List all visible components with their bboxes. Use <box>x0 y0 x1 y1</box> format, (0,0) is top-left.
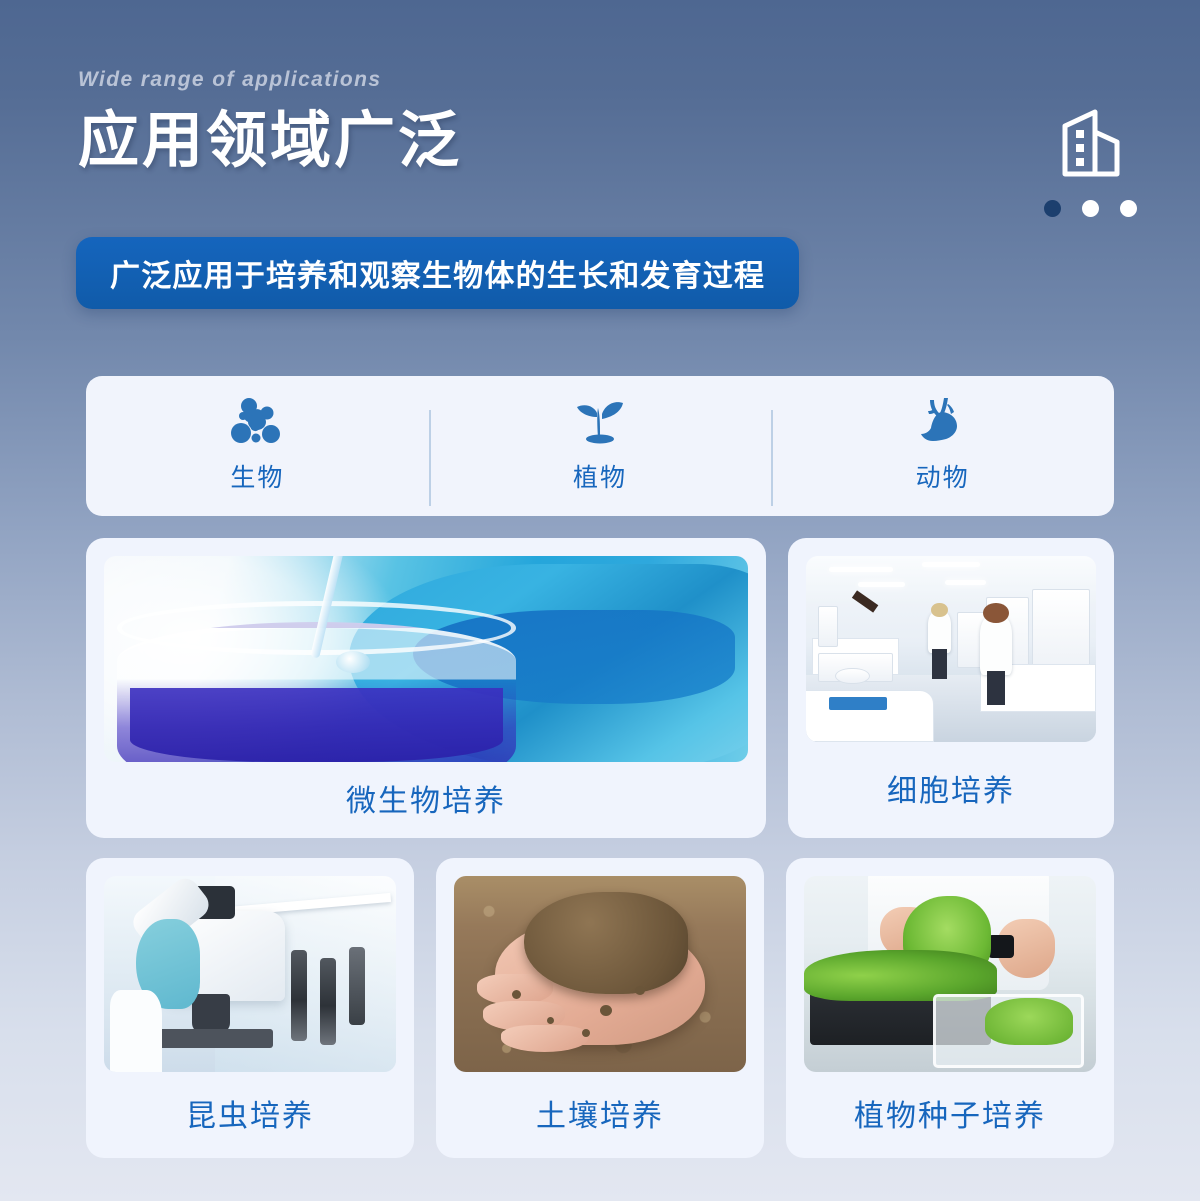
microscope-gloved-hand-photo <box>104 876 396 1072</box>
card-row-bottom: 昆虫培养 土壤培养 <box>86 858 1114 1158</box>
subtitle-banner-text: 广泛应用于培养和观察生物体的生长和发育过程 <box>110 251 765 295</box>
category-label: 植物 <box>573 458 627 494</box>
category-item-biology[interactable]: 生物 <box>86 398 429 494</box>
card-row-top: 微生物培养 <box>86 538 1114 838</box>
subtitle-banner: 广泛应用于培养和观察生物体的生长和发育过程 <box>76 237 799 309</box>
seedling-trays-photo <box>804 876 1096 1072</box>
pager-dot-3[interactable] <box>1120 200 1137 217</box>
card-plant-seed-culture[interactable]: 植物种子培养 <box>786 858 1114 1158</box>
card-label: 细胞培养 <box>887 752 1015 828</box>
building-icon <box>1030 108 1150 178</box>
page-title: 应用领域广泛 <box>78 106 462 174</box>
pager-dot-2[interactable] <box>1082 200 1099 217</box>
deer-icon <box>917 398 969 446</box>
microbe-icon <box>230 398 284 446</box>
card-insect-culture[interactable]: 昆虫培养 <box>86 858 414 1158</box>
card-cell-culture[interactable]: 细胞培养 <box>788 538 1114 838</box>
page-header: Wide range of applications 应用领域广泛 <box>78 68 462 174</box>
category-strip: 生物 植物 动物 <box>86 376 1114 516</box>
card-label: 微生物培养 <box>346 762 506 838</box>
category-label: 生物 <box>230 458 284 494</box>
category-item-plant[interactable]: 植物 <box>429 398 772 494</box>
card-label: 土壤培养 <box>536 1077 664 1153</box>
carousel-pager[interactable] <box>1030 200 1150 217</box>
card-label: 昆虫培养 <box>186 1077 314 1153</box>
hand-holding-soil-photo <box>454 876 746 1072</box>
sprout-icon <box>571 398 629 446</box>
petri-dish-pipette-photo <box>104 556 748 762</box>
card-label: 植物种子培养 <box>854 1077 1046 1153</box>
corner-decoration <box>1030 108 1150 217</box>
card-soil-culture[interactable]: 土壤培养 <box>436 858 764 1158</box>
category-item-animal[interactable]: 动物 <box>771 398 1114 494</box>
eyebrow-text: Wide range of applications <box>78 68 462 92</box>
laboratory-scientists-photo <box>806 556 1096 742</box>
pager-dot-1[interactable] <box>1044 200 1061 217</box>
category-label: 动物 <box>916 458 970 494</box>
card-microbe-culture[interactable]: 微生物培养 <box>86 538 766 838</box>
